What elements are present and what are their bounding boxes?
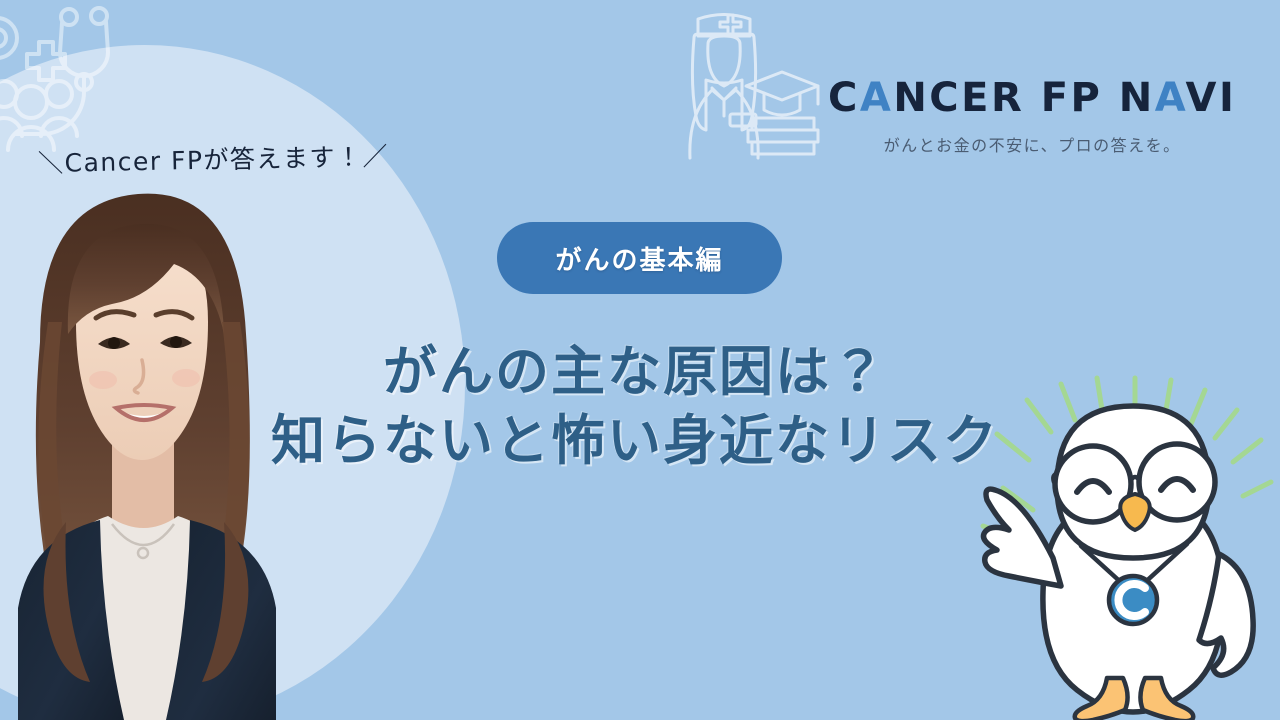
brand-title-accent-a1: A (860, 75, 893, 121)
category-badge-label: がんの基本編 (555, 240, 723, 277)
brand-title-c: C (828, 75, 860, 121)
brand-title-accent-a2: A (1155, 75, 1186, 121)
page-title-line-2: 知らないと怖い身近なリスク (255, 407, 1015, 476)
circle-icon (0, 18, 17, 58)
brand-title-end: VI (1186, 75, 1237, 121)
brand-title: CANCER FP NAVI (828, 78, 1236, 118)
page-title: がんの主な原因は？ 知らないと怖い身近なリスク (255, 338, 1015, 476)
brand-logo: CANCER FP NAVI がんとお金の不安に、プロの答えを。 (660, 6, 1205, 176)
brand-tagline: がんとお金の不安に、プロの答えを。 (828, 132, 1236, 156)
owl-mascot (975, 378, 1280, 720)
nurse-graduation-books-icon (660, 6, 828, 161)
thumbnail-canvas: ＼Cancer FPが答えます！／ (0, 0, 1280, 720)
category-badge: がんの基本編 (497, 222, 782, 294)
brand-title-mid: NCER FP N (893, 75, 1154, 121)
page-title-line-1: がんの主な原因は？ (255, 338, 1015, 407)
